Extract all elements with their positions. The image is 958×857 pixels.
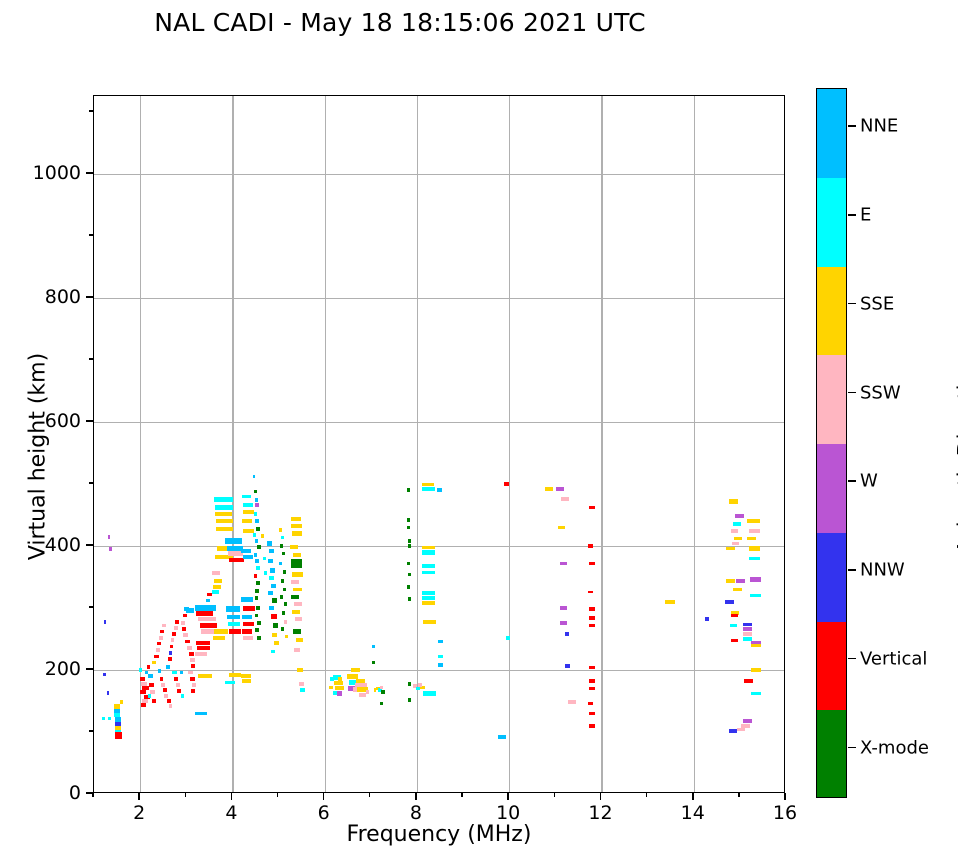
echo-mark (334, 681, 343, 685)
echo-mark (282, 552, 285, 556)
echo-mark (156, 648, 161, 652)
echo-mark (422, 564, 435, 568)
colorbar-tick (848, 303, 856, 305)
echo-mark (215, 512, 233, 516)
echo-mark (160, 630, 164, 634)
echo-mark (737, 728, 745, 732)
echo-mark (589, 724, 595, 728)
echo-mark (225, 538, 242, 544)
echo-mark (195, 605, 216, 611)
echo-mark (242, 519, 252, 523)
echo-mark (215, 505, 233, 509)
echo-mark (104, 620, 106, 624)
echo-mark (267, 541, 272, 545)
echo-mark (749, 546, 760, 550)
x-tick-label: 10 (496, 802, 520, 824)
echo-mark (273, 623, 278, 627)
x-axis-label: Frequency (MHz) (93, 822, 785, 847)
echo-mark (163, 688, 167, 692)
echo-mark (270, 568, 275, 573)
echo-mark (291, 595, 298, 599)
echo-mark (147, 665, 150, 669)
echo-mark (242, 615, 252, 619)
echo-mark (180, 671, 184, 675)
echo-mark (141, 703, 146, 707)
x-tick (692, 793, 694, 800)
echo-mark (725, 600, 734, 604)
echo-mark (243, 510, 253, 514)
x-tick (138, 793, 140, 800)
x-tick-label: 16 (773, 802, 797, 824)
echo-mark (589, 506, 595, 510)
x-tick (323, 793, 325, 800)
echo-mark (256, 527, 259, 531)
echo-mark (335, 686, 344, 690)
gridline-vertical (325, 96, 326, 792)
colorbar-label-nne: NNE (860, 116, 898, 137)
gridline-vertical (509, 96, 510, 792)
echo-mark (733, 588, 741, 592)
echo-mark (291, 524, 301, 528)
colorbar-tick (848, 480, 856, 482)
echo-mark (558, 526, 565, 530)
colorbar-tick (848, 747, 856, 749)
y-tick (86, 420, 93, 422)
echo-mark (281, 579, 284, 583)
echo-mark (743, 719, 752, 723)
figure-title: NAL CADI - May 18 18:15:06 2021 UTC (0, 8, 800, 37)
echo-mark (408, 544, 412, 548)
x-tick-label: 8 (410, 802, 422, 824)
echo-mark (736, 579, 745, 583)
echo-mark (296, 638, 302, 642)
y-tick (86, 172, 93, 174)
echo-mark (214, 629, 228, 633)
echo-mark (172, 632, 176, 636)
echo-mark (162, 624, 166, 628)
echo-mark (213, 636, 225, 640)
echo-mark (226, 606, 240, 612)
echo-mark (282, 611, 285, 615)
gridline-vertical (140, 96, 141, 792)
echo-mark (241, 674, 251, 678)
echo-mark (731, 529, 738, 533)
echo-mark (743, 632, 752, 636)
echo-mark (268, 591, 273, 595)
echo-mark (730, 624, 737, 628)
echo-mark (197, 646, 210, 650)
x-tick-minor (185, 793, 186, 797)
echo-mark (161, 683, 165, 687)
echo-mark (183, 633, 188, 637)
echo-mark (188, 671, 193, 675)
echo-mark (255, 539, 258, 543)
echo-mark (292, 610, 299, 614)
echo-mark (256, 566, 259, 570)
echo-mark (281, 536, 284, 540)
echo-mark (565, 632, 570, 636)
echo-mark (366, 690, 369, 694)
echo-mark (408, 682, 412, 686)
echo-mark (216, 519, 234, 523)
echo-mark (744, 679, 752, 683)
x-tick-minor (554, 793, 555, 797)
echo-mark (506, 636, 511, 640)
echo-mark (229, 673, 241, 677)
x-tick (600, 793, 602, 800)
echo-mark (257, 545, 260, 549)
colorbar-label-x-mode: X-mode (860, 737, 929, 758)
echo-mark (423, 620, 436, 624)
echo-mark (214, 579, 222, 583)
echo-mark (589, 562, 595, 566)
echo-mark (102, 717, 104, 721)
echo-mark (437, 488, 442, 492)
echo-mark (279, 528, 282, 532)
echo-mark (157, 642, 162, 646)
echo-mark (732, 542, 739, 546)
echo-mark (294, 602, 301, 606)
echo-mark (438, 640, 443, 644)
y-tick-label: 200 (45, 658, 81, 680)
x-tick (415, 793, 417, 800)
echo-mark (329, 686, 333, 690)
echo-mark (747, 537, 756, 540)
echo-mark (279, 562, 282, 566)
gridline-horizontal (94, 422, 784, 423)
echo-mark (731, 639, 738, 642)
echo-mark (243, 606, 255, 611)
x-tick-label: 6 (318, 802, 330, 824)
echo-mark (256, 581, 259, 585)
echo-mark (183, 614, 188, 618)
echo-mark (295, 617, 301, 621)
echo-mark (268, 559, 273, 563)
echo-mark (242, 495, 251, 499)
x-tick-label: 14 (681, 802, 705, 824)
echo-mark (407, 518, 411, 522)
echo-mark (164, 694, 168, 698)
echo-mark (253, 475, 256, 479)
echo-mark (285, 635, 288, 639)
echo-mark (588, 702, 594, 705)
echo-mark (733, 522, 740, 526)
colorbar-band-nnw[interactable] (817, 533, 846, 622)
colorbar-band-nne[interactable] (817, 89, 846, 178)
echo-mark (751, 668, 761, 672)
x-tick (784, 793, 786, 800)
echo-mark (283, 588, 286, 592)
echo-mark (293, 553, 300, 557)
echo-mark (206, 599, 211, 603)
colorbar-label-vertical: Vertical (860, 648, 927, 669)
echo-mark (372, 645, 376, 649)
gridline-horizontal (94, 546, 784, 547)
echo-mark (280, 595, 283, 599)
echo-mark (225, 681, 235, 685)
echo-mark (291, 559, 301, 568)
echo-mark (196, 611, 212, 615)
echo-mark (292, 531, 301, 535)
x-tick (507, 793, 509, 800)
echo-mark (256, 606, 259, 610)
echo-mark (243, 622, 253, 626)
colorbar-band-x-mode[interactable] (817, 710, 846, 798)
echo-mark (271, 584, 276, 588)
echo-mark (422, 550, 435, 555)
echo-mark (243, 636, 253, 640)
echo-mark (141, 682, 147, 686)
x-tick-label: 4 (225, 802, 237, 824)
echo-mark (242, 629, 252, 633)
echo-mark (729, 729, 737, 733)
echo-mark (229, 629, 241, 633)
echo-mark (749, 529, 760, 533)
echo-mark (568, 700, 575, 704)
echo-mark (743, 623, 752, 626)
echo-mark (729, 499, 738, 503)
echo-mark (228, 622, 240, 626)
echo-mark (726, 547, 735, 551)
y-tick-minor (89, 358, 93, 359)
gridline-horizontal (94, 670, 784, 671)
echo-mark (381, 690, 385, 694)
echo-mark (290, 545, 298, 549)
echo-mark (187, 646, 192, 650)
echo-mark (589, 624, 595, 628)
colorbar-label-sse: SSE (860, 293, 894, 314)
gridline-horizontal (94, 174, 784, 175)
x-tick-minor (738, 793, 739, 797)
echo-mark (293, 588, 301, 592)
echo-mark (747, 519, 760, 523)
echo-mark (589, 607, 595, 611)
echo-mark (284, 602, 287, 606)
y-tick (86, 544, 93, 546)
echo-mark (416, 687, 420, 691)
echo-mark (750, 577, 761, 581)
echo-mark (280, 544, 283, 548)
echo-mark (216, 527, 234, 531)
echo-mark (174, 626, 178, 630)
echo-mark (176, 683, 180, 687)
echo-mark (423, 691, 436, 695)
echo-mark (726, 579, 735, 583)
echo-mark (142, 686, 148, 690)
echo-mark (347, 674, 358, 679)
echo-mark (274, 641, 279, 645)
echo-mark (254, 553, 257, 557)
echo-mark (407, 562, 411, 566)
echo-mark (705, 617, 710, 621)
x-tick-minor (92, 793, 93, 797)
colorbar-band-e[interactable] (817, 178, 846, 267)
echo-mark (283, 570, 286, 574)
echo-mark (504, 482, 510, 486)
colorbar-tick (848, 658, 856, 660)
y-tick-minor (89, 482, 93, 483)
y-tick (86, 668, 93, 670)
echo-mark (182, 627, 187, 631)
echo-mark (422, 601, 435, 605)
x-tick-minor (646, 793, 647, 797)
echo-mark (408, 698, 412, 702)
echo-mark (589, 666, 595, 670)
x-tick-label: 2 (133, 802, 145, 824)
echo-mark (589, 712, 595, 716)
echo-mark (330, 677, 334, 681)
echo-mark (337, 691, 343, 695)
echo-mark (560, 621, 567, 625)
echo-mark (749, 557, 760, 561)
echo-mark (160, 677, 164, 681)
echo-mark (743, 627, 752, 631)
echo-mark (177, 689, 181, 693)
echo-mark (148, 694, 152, 698)
echo-mark (271, 614, 277, 620)
echo-mark (438, 655, 443, 659)
echo-mark (257, 621, 260, 625)
echo-mark (154, 655, 159, 659)
echo-mark (272, 633, 277, 637)
colorbar[interactable] (816, 88, 847, 798)
echo-mark (293, 629, 300, 634)
echo-mark (380, 702, 383, 706)
echo-mark (185, 640, 190, 644)
echo-mark (589, 616, 595, 620)
echo-mark (588, 544, 594, 547)
echo-mark (269, 606, 274, 610)
echo-mark (299, 682, 305, 686)
colorbar-band-sse[interactable] (817, 267, 846, 356)
echo-mark (213, 585, 221, 589)
echo-mark (271, 650, 275, 654)
x-tick (231, 793, 233, 800)
echo-mark (422, 546, 435, 549)
echo-mark (269, 549, 274, 553)
echo-mark (255, 628, 258, 632)
y-tick-minor (89, 606, 93, 607)
echo-mark (589, 687, 595, 691)
echo-mark (255, 519, 258, 523)
echo-mark (422, 487, 435, 491)
echo-mark (356, 679, 365, 683)
echo-mark (665, 600, 675, 604)
colorbar-label-nnw: NNW (860, 560, 905, 581)
echo-mark (169, 704, 173, 708)
echo-mark (149, 683, 154, 687)
x-tick-minor (461, 793, 462, 797)
echo-mark (103, 673, 105, 677)
echo-mark (241, 549, 251, 553)
echo-mark (109, 547, 111, 551)
x-tick-minor (277, 793, 278, 797)
echo-mark (140, 677, 145, 681)
echo-mark (254, 512, 257, 516)
echo-mark (243, 555, 253, 559)
echo-mark (545, 487, 552, 491)
echo-mark (422, 483, 434, 486)
colorbar-tick (848, 214, 856, 216)
echo-mark (195, 652, 207, 656)
echo-mark (407, 488, 411, 492)
echo-mark (255, 596, 258, 600)
echo-mark (284, 620, 287, 624)
echo-mark (169, 651, 173, 655)
gridline-vertical (601, 96, 602, 792)
echo-mark (272, 598, 277, 602)
echo-mark (556, 487, 563, 491)
echo-mark (115, 732, 122, 739)
echo-mark (438, 663, 443, 667)
echo-mark (408, 573, 412, 577)
echo-mark (171, 638, 175, 642)
echo-mark (168, 657, 172, 661)
echo-mark (200, 623, 217, 627)
gridline-vertical (232, 96, 233, 792)
echo-mark (255, 559, 258, 563)
echo-mark (186, 608, 193, 613)
echo-mark (254, 574, 257, 578)
echo-mark (408, 539, 412, 543)
echo-mark (731, 614, 738, 618)
x-tick-minor (369, 793, 370, 797)
echo-mark (255, 589, 258, 593)
echo-mark (195, 712, 207, 716)
echo-mark (107, 691, 109, 695)
echo-mark (297, 668, 303, 672)
echo-mark (338, 677, 343, 681)
echo-mark (588, 591, 594, 594)
echo-mark (291, 517, 301, 521)
echo-mark (120, 700, 123, 704)
echo-mark (198, 617, 216, 621)
echo-mark (751, 644, 761, 647)
echo-mark (261, 534, 264, 538)
echo-mark (254, 490, 257, 494)
echo-mark (150, 690, 155, 694)
echo-mark (170, 645, 174, 649)
colorbar-label-w: W (860, 471, 878, 492)
echo-mark (751, 692, 761, 696)
echo-mark (214, 497, 233, 501)
y-tick-minor (89, 234, 93, 235)
echo-mark (167, 699, 171, 703)
y-tick (86, 296, 93, 298)
colorbar-band-vertical[interactable] (817, 622, 846, 711)
echo-mark (372, 661, 376, 665)
echo-mark (140, 690, 146, 694)
echo-mark (359, 693, 366, 697)
echo-mark (281, 627, 284, 631)
echo-mark (243, 503, 253, 507)
echo-mark (422, 571, 435, 574)
echo-mark (407, 585, 411, 589)
echo-mark (172, 671, 176, 675)
echo-mark (255, 614, 258, 618)
echo-mark (560, 606, 567, 610)
echo-mark (408, 597, 412, 601)
plot-area[interactable] (93, 95, 785, 793)
echo-mark (422, 596, 435, 600)
gridline-horizontal (94, 298, 784, 299)
colorbar-band-ssw[interactable] (817, 355, 846, 444)
y-tick-minor (89, 110, 93, 111)
echo-mark (190, 658, 195, 662)
echo-mark (735, 514, 744, 518)
echo-mark (734, 537, 741, 540)
colorbar-band-w[interactable] (817, 444, 846, 533)
